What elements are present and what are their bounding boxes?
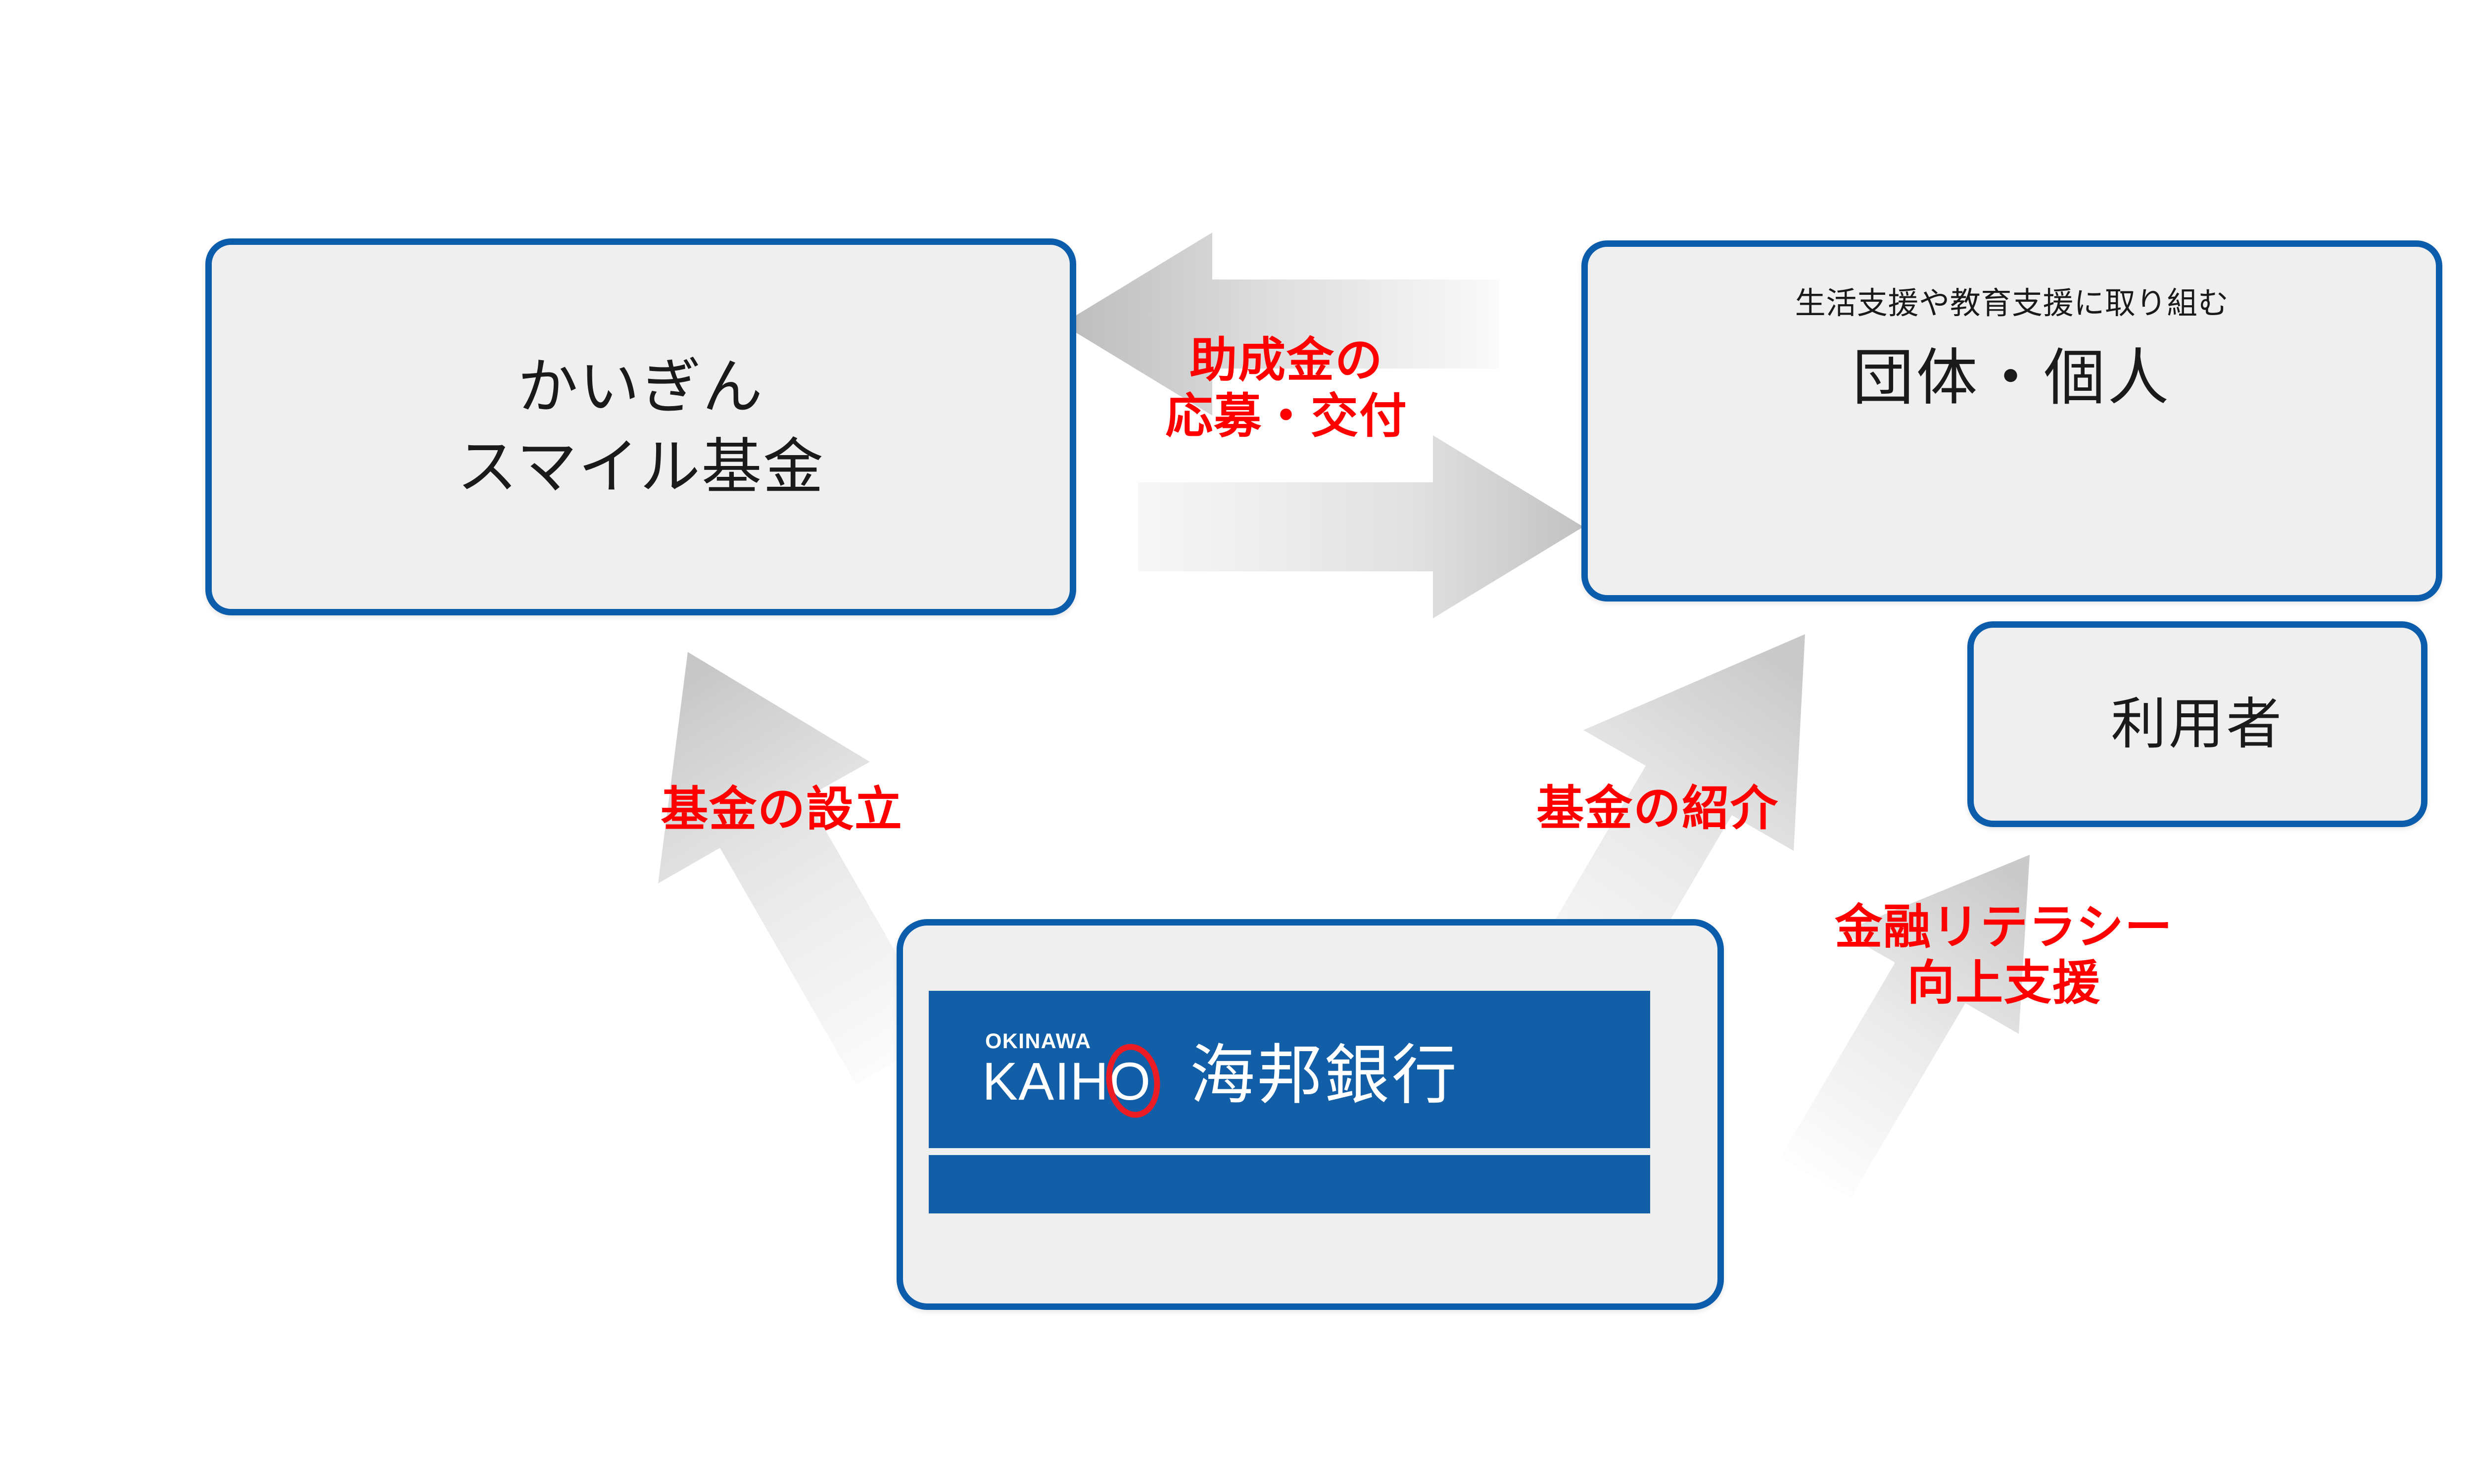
fund-title-line2: スマイル基金 bbox=[457, 427, 825, 507]
bank-logo-okinawa-text: OKINAWA bbox=[985, 1031, 1091, 1052]
user-title: 利用者 bbox=[2111, 694, 2284, 754]
bank-logo-roman-block: OKINAWA KAIHO bbox=[982, 1031, 1151, 1108]
box-kaigin-smile-fund[interactable]: かいぎん スマイル基金 bbox=[205, 238, 1076, 615]
bank-logo-lower-bar bbox=[929, 1155, 1650, 1213]
diagram-canvas: かいぎん スマイル基金 生活支援や教育支援に取り組む 団体・個人 利用者 OKI… bbox=[0, 0, 2474, 1484]
grant-arrow-right-head bbox=[1138, 435, 1583, 618]
box-users[interactable]: 利用者 bbox=[1967, 621, 2427, 827]
org-subtitle: 生活支援や教育支援に取り組む bbox=[1795, 285, 2229, 322]
bank-logo-plate: OKINAWA KAIHO 海邦銀行 bbox=[929, 991, 1650, 1148]
bank-logo-japanese-text: 海邦銀行 bbox=[1189, 1043, 1459, 1108]
caption-fund-establishment: 基金の設立 bbox=[589, 782, 975, 837]
org-title: 団体・個人 bbox=[1853, 343, 2172, 414]
caption-grant-application: 助成金の 応募・交付 bbox=[1108, 332, 1465, 445]
bank-logo: OKINAWA KAIHO 海邦銀行 bbox=[982, 1031, 1459, 1108]
bank-logo-container: OKINAWA KAIHO 海邦銀行 bbox=[929, 991, 1650, 1213]
bank-logo-kaiho-text: KAIHO bbox=[982, 1055, 1151, 1108]
box-organizations-individuals[interactable]: 生活支援や教育支援に取り組む 団体・個人 bbox=[1581, 240, 2442, 602]
box-okinawa-kaiho-bank[interactable]: OKINAWA KAIHO 海邦銀行 bbox=[897, 919, 1724, 1310]
caption-financial-literacy-support: 金融リテラシー 向上支援 bbox=[1761, 899, 2246, 1012]
caption-fund-introduction: 基金の紹介 bbox=[1479, 781, 1836, 836]
fund-title-line1: かいぎん bbox=[518, 347, 764, 427]
